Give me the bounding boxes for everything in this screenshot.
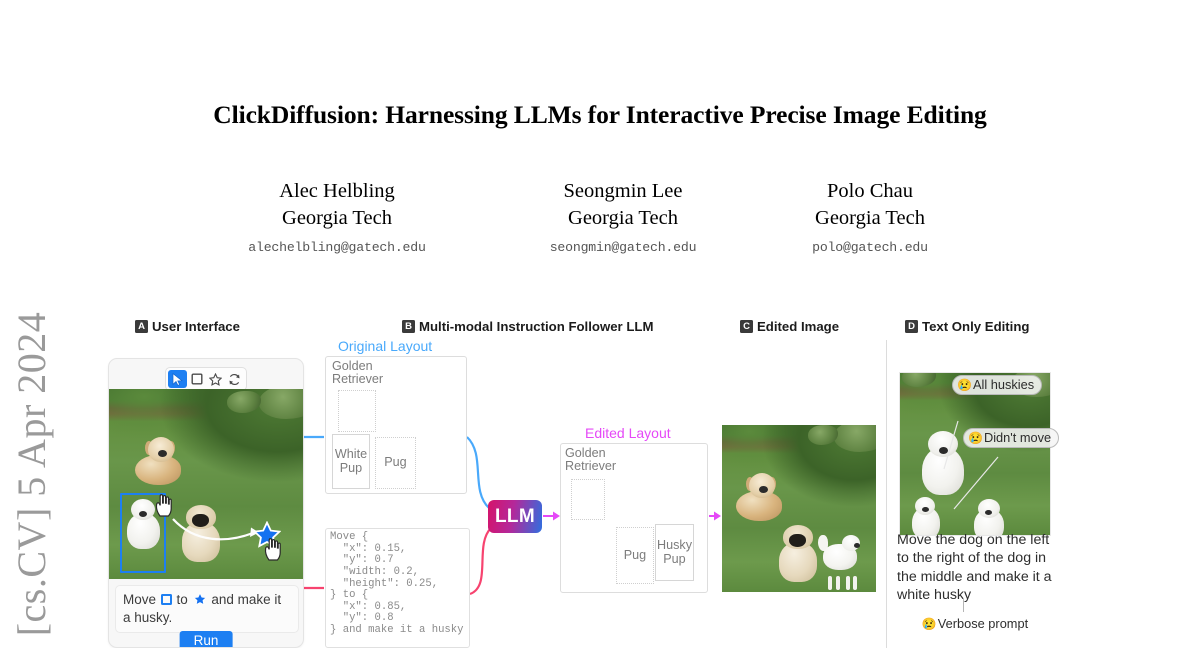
author-block-2: Polo Chau Georgia Tech polo@gatech.edu (755, 178, 985, 255)
object-label-golden-retriever: Golden Retriever (332, 360, 383, 387)
prompt-text-part-2: to (177, 592, 188, 607)
panel-header-c: C Edited Image (740, 319, 839, 334)
dog-pug (776, 525, 822, 592)
object-box-husky-pup[interactable]: Husky Pup (655, 524, 694, 581)
square-reference-icon (161, 594, 172, 605)
edited-layout-label: Edited Layout (585, 425, 671, 441)
dog-white-husky (820, 531, 866, 589)
crying-face-emoji: 😢 (968, 431, 983, 445)
author-name: Seongmin Lee (508, 178, 738, 205)
edited-layout-box: Golden Retriever Pug Husky Pup (560, 443, 708, 593)
panel-title: Multi-modal Instruction Follower LLM (419, 319, 653, 334)
panel-badge: D (905, 320, 918, 333)
panel-badge: C (740, 320, 753, 333)
callout-text: All huskies (973, 377, 1034, 392)
panel-header-b: B Multi-modal Instruction Follower LLM (402, 319, 653, 334)
callout-all-huskies: 😢 All huskies (952, 375, 1042, 395)
object-box-pug[interactable]: Pug (375, 437, 416, 489)
original-layout-label: Original Layout (338, 338, 432, 354)
crying-face-emoji: 😢 (922, 617, 937, 631)
source-image-canvas[interactable] (109, 389, 304, 579)
target-star-icon[interactable] (253, 521, 281, 549)
structured-instruction-code: Move { "x": 0.15, "y": 0.7 "width: 0.2, … (325, 528, 470, 648)
refresh-tool-button[interactable] (225, 370, 244, 388)
author-affiliation: Georgia Tech (755, 205, 985, 232)
edited-image (722, 425, 876, 592)
editor-toolbar (165, 367, 247, 391)
panel-badge: B (402, 320, 415, 333)
author-block-0: Alec Helbling Georgia Tech alechelbling@… (222, 178, 452, 255)
page-title: ClickDiffusion: Harnessing LLMs for Inte… (90, 100, 1110, 130)
cursor-tool-button[interactable] (168, 370, 187, 388)
panel-divider (886, 340, 887, 648)
object-box-pug[interactable]: Pug (616, 527, 654, 584)
verbose-prompt-label: 😢 Verbose prompt (905, 616, 1045, 631)
panel-title: User Interface (152, 319, 240, 334)
llm-badge: LLM (488, 500, 542, 533)
object-box-golden-retriever[interactable] (338, 390, 376, 432)
instruction-prompt-field[interactable]: Move to and make it a husky. (115, 585, 299, 633)
panel-badge: A (135, 320, 148, 333)
star-tool-button[interactable] (206, 370, 225, 388)
object-label-golden-retriever: Golden Retriever (565, 447, 616, 474)
original-layout-box: Golden Retriever White Pup Pug (325, 356, 467, 494)
panel-title: Edited Image (757, 319, 839, 334)
square-tool-button[interactable] (187, 370, 206, 388)
author-affiliation: Georgia Tech (508, 205, 738, 232)
author-affiliation: Georgia Tech (222, 205, 452, 232)
callout-text: Didn't move (984, 430, 1051, 445)
author-name: Alec Helbling (222, 178, 452, 205)
verbose-prompt-text: Move the dog on the left to the right of… (897, 531, 1057, 604)
verbose-label-text: Verbose prompt (938, 616, 1028, 631)
crying-face-emoji: 😢 (957, 378, 972, 392)
panel-title: Text Only Editing (922, 319, 1029, 334)
dog-golden-retriever (135, 437, 183, 489)
author-block-1: Seongmin Lee Georgia Tech seongmin@gatec… (508, 178, 738, 255)
author-email: alechelbling@gatech.edu (222, 240, 452, 255)
callout-didnt-move: 😢 Didn't move (963, 428, 1059, 448)
drag-arrow (169, 513, 264, 549)
author-email: polo@gatech.edu (755, 240, 985, 255)
object-box-white-pup[interactable]: White Pup (332, 434, 370, 489)
run-button[interactable]: Run (180, 631, 233, 648)
dog-golden-retriever (736, 473, 784, 525)
prompt-text-part-1: Move (123, 592, 156, 607)
text-only-edited-image (899, 372, 1051, 536)
verbose-leader-line (963, 598, 964, 612)
author-name: Polo Chau (755, 178, 985, 205)
star-reference-icon (193, 592, 207, 606)
panel-header-a: A User Interface (135, 319, 240, 334)
arxiv-side-stamp: [cs.CV] 5 Apr 2024 (0, 300, 62, 648)
author-email: seongmin@gatech.edu (508, 240, 738, 255)
user-interface-card: Move to and make it a husky. Run (108, 358, 304, 648)
selection-bounding-box[interactable] (120, 493, 166, 573)
panel-header-d: D Text Only Editing (905, 319, 1029, 334)
object-box-golden-retriever[interactable] (571, 479, 605, 520)
